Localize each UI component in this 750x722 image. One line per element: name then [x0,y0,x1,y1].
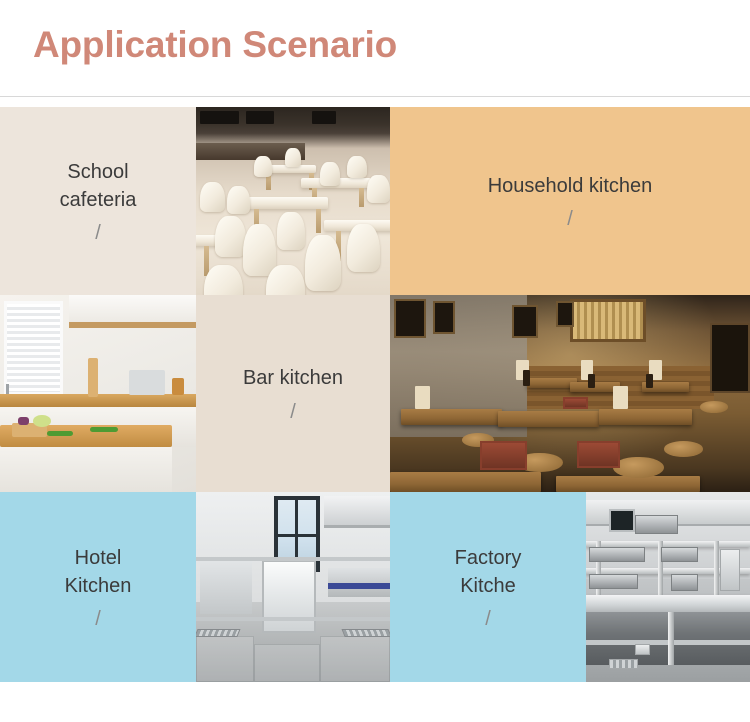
scenario-photo-home-kitchen[interactable] [0,295,196,492]
cafeteria-photo-scene [196,107,390,295]
application-scenario-page: Application Scenario School cafeteria / [0,0,750,722]
scenario-photo-bar[interactable] [390,295,750,492]
scenario-label-factory-kitchen: Factory Kitche [455,545,522,600]
scenario-slash-factory-kitchen: / [485,609,491,629]
industrial-kitchen-photo-scene [586,492,750,682]
home-kitchen-photo-scene [0,295,196,492]
bar-photo-scene [390,295,750,492]
scenario-slash-school-cafeteria: / [95,223,101,243]
header-divider [0,96,750,97]
commercial-kitchen-photo-scene [196,492,390,682]
scenario-photo-cafeteria[interactable] [196,107,390,295]
scenario-slash-household-kitchen: / [567,209,573,229]
scenario-cell-hotel-kitchen[interactable]: Hotel Kitchen / [0,492,196,682]
scenario-grid: School cafeteria / [0,107,750,682]
scenario-label-bar-kitchen: Bar kitchen [243,365,343,392]
scenario-photo-industrial-kitchen[interactable] [586,492,750,682]
scenario-label-household-kitchen: Household kitchen [488,173,653,200]
scenario-label-school-cafeteria: School cafeteria [60,159,137,214]
scenario-cell-household-kitchen[interactable]: Household kitchen / [390,107,750,295]
scenario-cell-factory-kitchen[interactable]: Factory Kitche / [390,492,586,682]
page-title: Application Scenario [33,24,397,66]
scenario-cell-school-cafeteria[interactable]: School cafeteria / [0,107,196,295]
scenario-slash-hotel-kitchen: / [95,609,101,629]
page-header: Application Scenario [0,0,750,98]
scenario-slash-bar-kitchen: / [290,402,296,422]
scenario-label-hotel-kitchen: Hotel Kitchen [65,545,132,600]
scenario-photo-commercial-kitchen[interactable] [196,492,390,682]
scenario-cell-bar-kitchen[interactable]: Bar kitchen / [196,295,390,492]
